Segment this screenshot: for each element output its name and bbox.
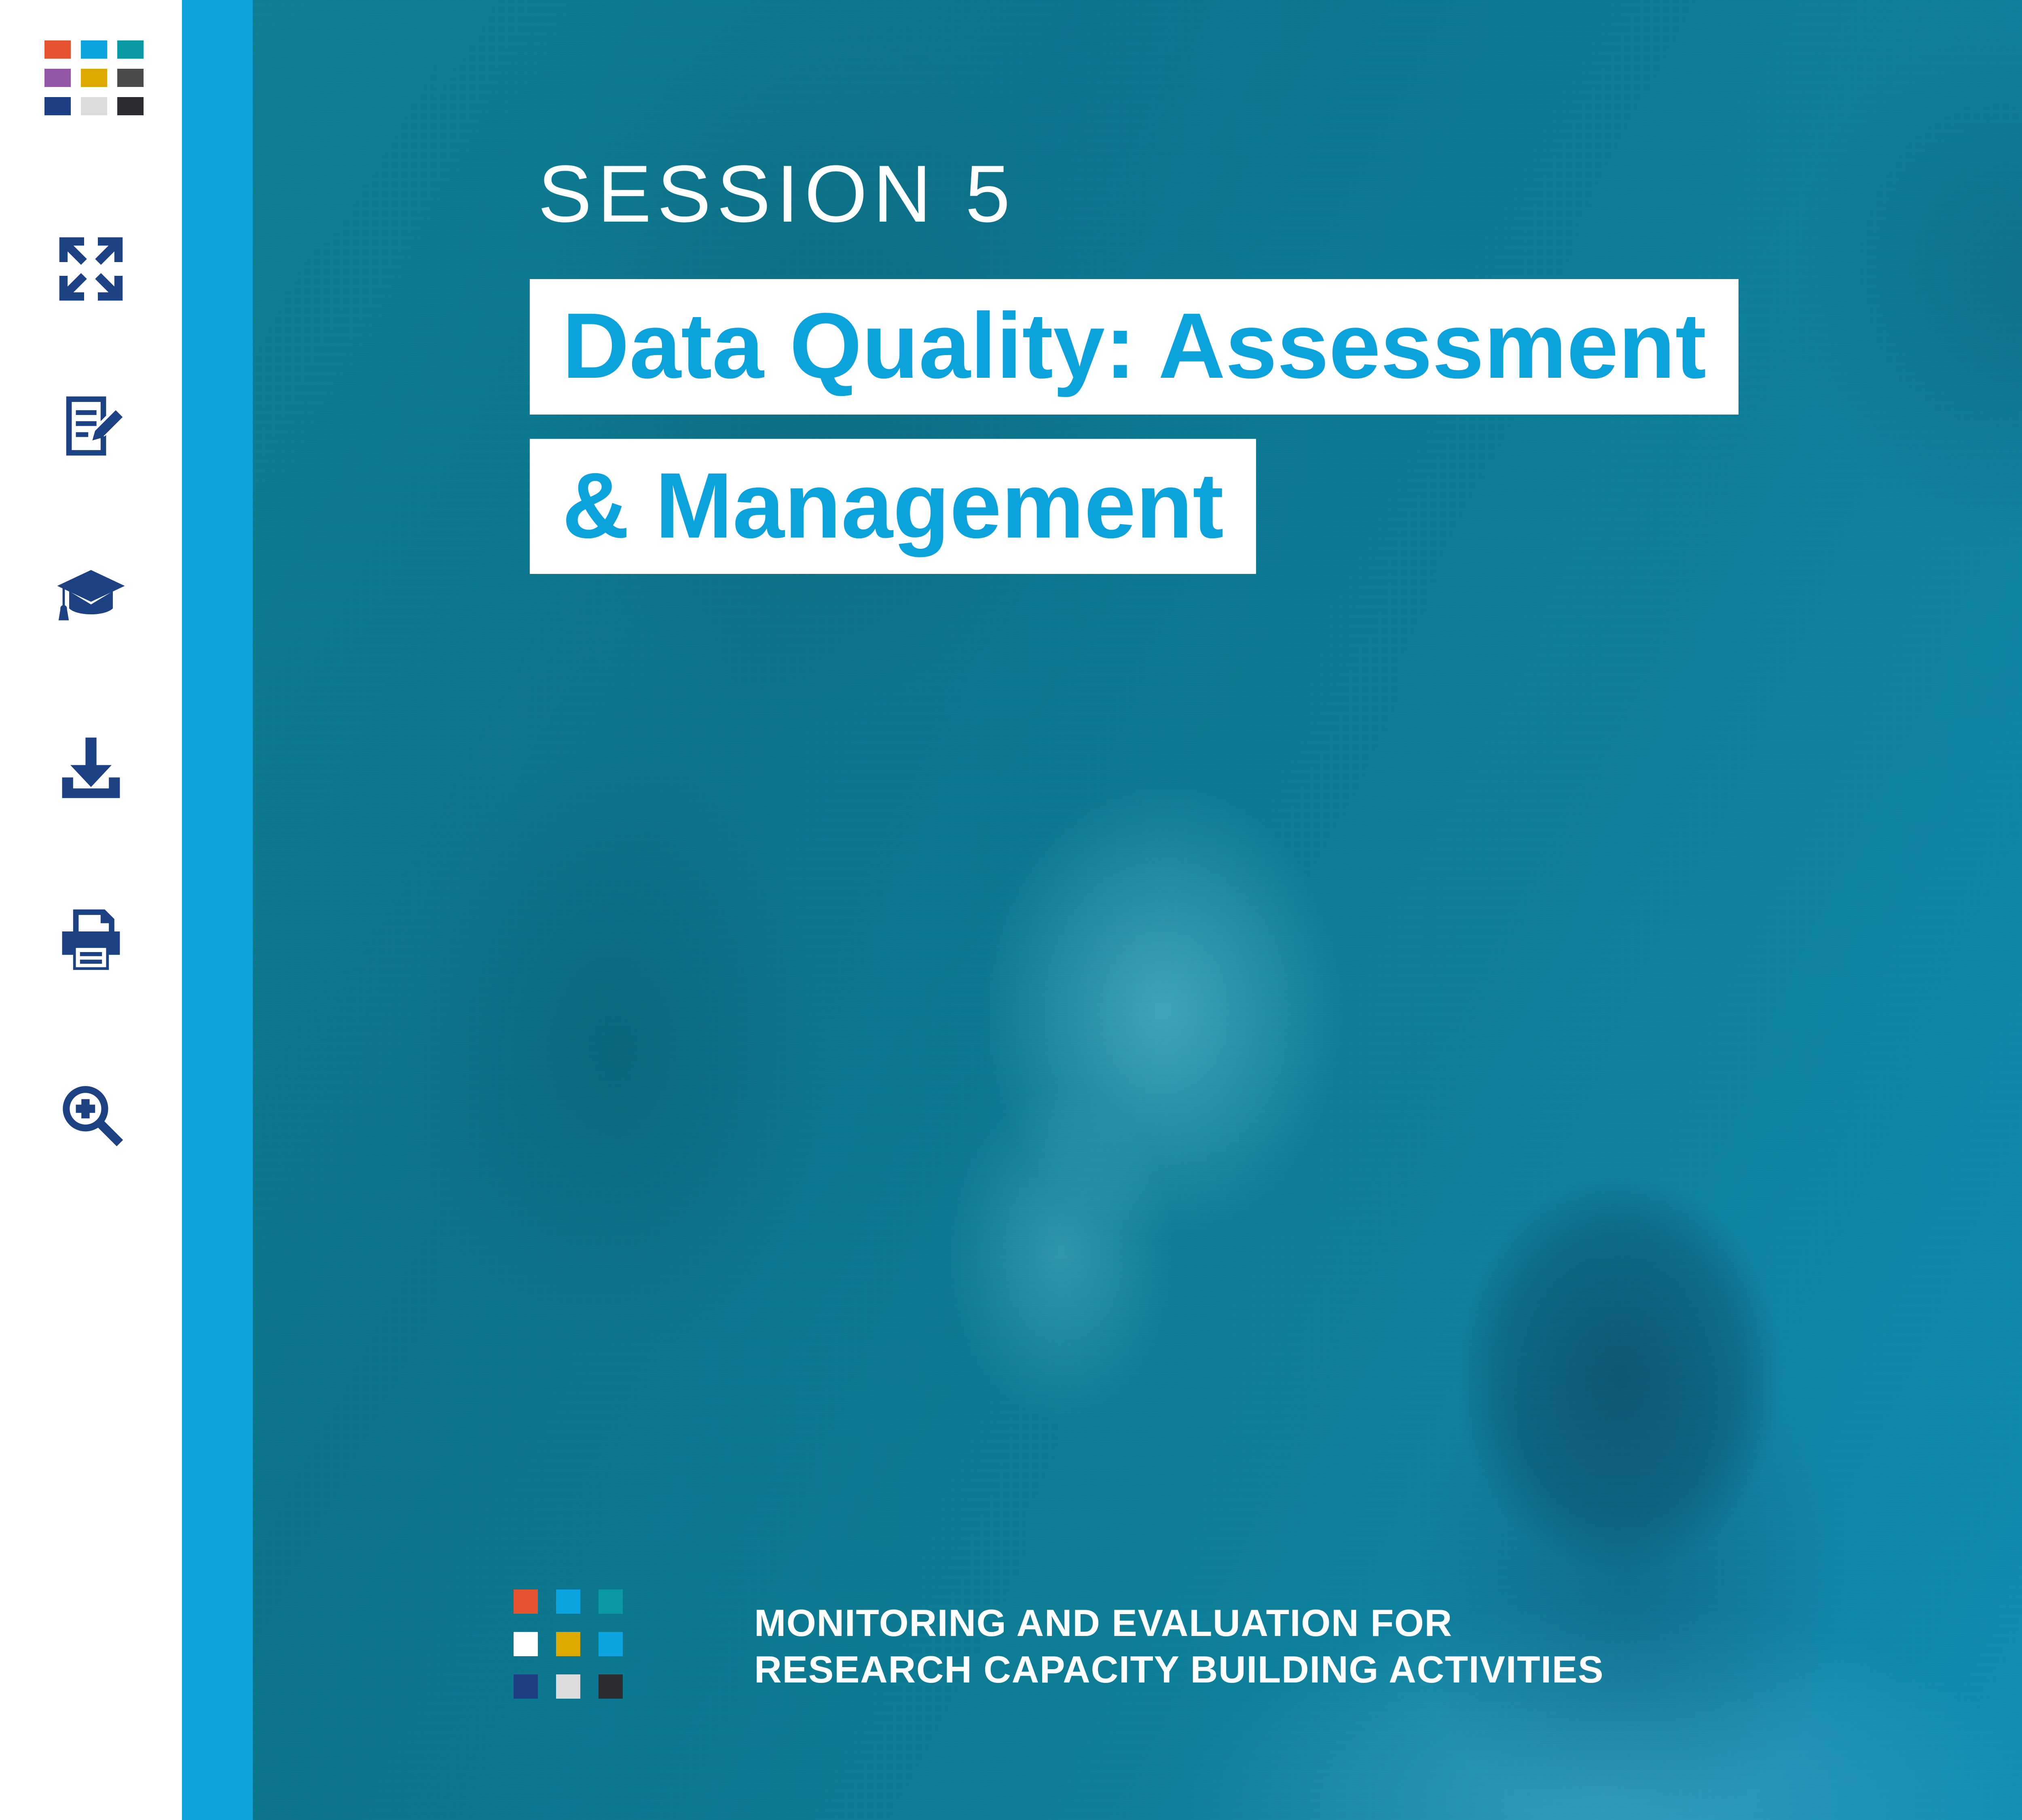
- sidebar-tool-print[interactable]: [0, 896, 182, 981]
- swatch-purple[interactable]: [44, 69, 71, 87]
- sidebar-tool-learning[interactable]: [0, 550, 182, 635]
- slide-title-line-2: & Management: [530, 439, 1256, 574]
- left-accent-bar: [182, 0, 253, 1820]
- swatch-teal[interactable]: [117, 40, 144, 59]
- brand-square-navy: [514, 1674, 538, 1699]
- brand-square-white: [514, 1632, 538, 1656]
- sidebar-tool-notes[interactable]: [0, 384, 182, 469]
- swatch-orange[interactable]: [44, 40, 71, 59]
- swatch-light-gray[interactable]: [81, 97, 107, 115]
- tool-sidebar: [0, 0, 182, 1820]
- graduation-cap-icon: [55, 558, 127, 627]
- brand-square-orange: [514, 1589, 538, 1614]
- session-label: SESSION 5: [538, 154, 1739, 235]
- brand-square-cyan: [556, 1589, 580, 1614]
- programme-brand-text: MONITORING AND EVALUATION FOR RESEARCH C…: [754, 1600, 1604, 1693]
- programme-brand-mark: [514, 1589, 623, 1699]
- magnifier-plus-icon: [57, 1080, 125, 1149]
- swatch-navy[interactable]: [44, 97, 71, 115]
- brand-square-light-gray: [556, 1674, 580, 1699]
- slide-canvas: SESSION 5 Data Quality: Assessment & Man…: [182, 0, 2022, 1820]
- brand-square-cyan-2: [599, 1632, 623, 1656]
- title-block: SESSION 5 Data Quality: Assessment & Man…: [530, 154, 1739, 574]
- brand-square-teal: [599, 1589, 623, 1614]
- document-pencil-icon: [57, 392, 125, 461]
- slide-title-line-1: Data Quality: Assessment: [530, 279, 1739, 415]
- palette-swatch-grid: [44, 40, 144, 115]
- brand-square-gold: [556, 1632, 580, 1656]
- brand-square-black: [599, 1674, 623, 1699]
- sidebar-tool-fullscreen[interactable]: [0, 226, 182, 311]
- swatch-cyan[interactable]: [81, 40, 107, 59]
- download-icon: [57, 732, 125, 801]
- swatch-black[interactable]: [117, 97, 144, 115]
- swatch-dark-gray[interactable]: [117, 69, 144, 87]
- slide-footer: MONITORING AND EVALUATION FOR RESEARCH C…: [182, 1565, 2022, 1776]
- sidebar-tool-download[interactable]: [0, 724, 182, 809]
- sidebar-tool-zoom[interactable]: [0, 1072, 182, 1157]
- swatch-gold[interactable]: [81, 69, 107, 87]
- printer-icon: [57, 904, 125, 973]
- fullscreen-icon: [57, 235, 125, 303]
